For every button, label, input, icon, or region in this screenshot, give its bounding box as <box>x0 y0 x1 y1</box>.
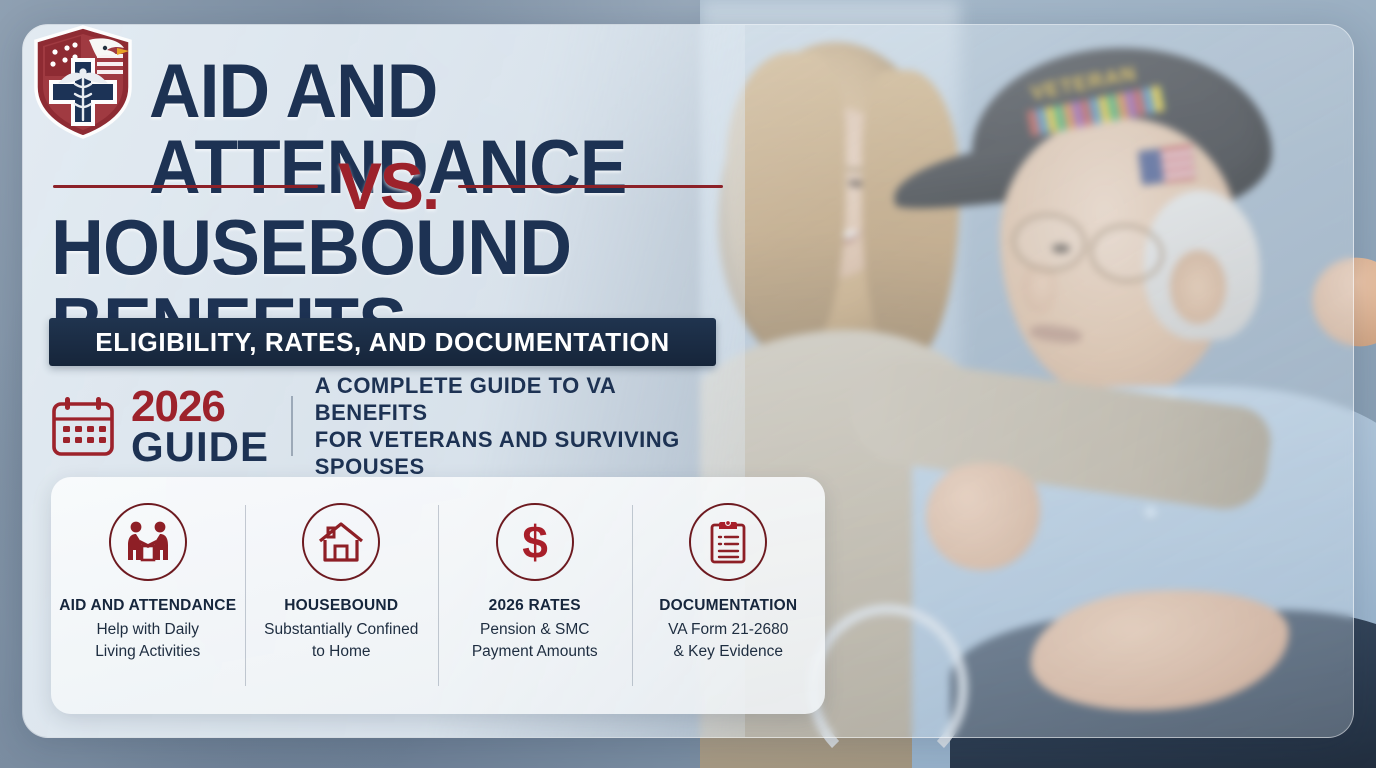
left-content-column: AID AND ATTENDANCE VS. HOUSEBOUND BENEFI… <box>23 25 753 738</box>
icon-ring <box>109 503 187 581</box>
feature-card-subtitle: Substantially Confined to Home <box>264 619 418 663</box>
versus-rule-left <box>53 185 318 188</box>
feature-card-aid-and-attendance[interactable]: AID AND ATTENDANCE Help with Daily Livin… <box>51 477 245 714</box>
glass-content-panel: AID AND ATTENDANCE VS. HOUSEBOUND BENEFI… <box>22 24 1354 738</box>
feature-card-strip: AID AND ATTENDANCE Help with Daily Livin… <box>51 477 825 714</box>
feature-card-subtitle-line-2: Living Activities <box>95 643 200 660</box>
two-people-helping-icon <box>123 520 173 564</box>
guide-word: GUIDE <box>131 426 269 468</box>
feature-card-subtitle-line-2: to Home <box>312 643 371 660</box>
guide-year-row: 2026 GUIDE A COMPLETE GUIDE TO VA BENEFI… <box>51 385 731 467</box>
subtitle-banner-text: ELIGIBILITY, RATES, AND DOCUMENTATION <box>95 327 669 358</box>
feature-card-subtitle-line-2: & Key Evidence <box>674 643 783 660</box>
versus-rule-right <box>458 185 723 188</box>
feature-card-subtitle-line-1: Help with Daily <box>96 621 199 638</box>
guide-description-line-1: A COMPLETE GUIDE TO VA BENEFITS <box>315 372 731 426</box>
calendar-icon <box>51 395 115 457</box>
guide-divider <box>291 396 293 456</box>
guide-year-block: 2026 GUIDE <box>131 385 269 468</box>
icon-ring <box>689 503 767 581</box>
guide-year: 2026 <box>131 385 269 429</box>
feature-card-subtitle-line-2: Payment Amounts <box>472 643 598 660</box>
icon-ring <box>302 503 380 581</box>
clipboard-document-icon <box>707 518 749 566</box>
feature-card-title: HOUSEBOUND <box>284 597 398 615</box>
house-icon <box>317 520 365 564</box>
feature-card-subtitle: Pension & SMC Payment Amounts <box>472 619 598 663</box>
feature-card-subtitle-line-1: Substantially Confined <box>264 621 418 638</box>
feature-card-documentation[interactable]: DOCUMENTATION VA Form 21-2680 & Key Evid… <box>632 477 826 714</box>
subtitle-banner: ELIGIBILITY, RATES, AND DOCUMENTATION <box>49 318 716 366</box>
guide-description: A COMPLETE GUIDE TO VA BENEFITS FOR VETE… <box>315 372 731 480</box>
dollar-sign-icon: $ <box>518 518 552 566</box>
feature-card-title: AID AND ATTENDANCE <box>59 597 236 615</box>
svg-text:$: $ <box>522 518 548 566</box>
va-shield-eagle-medical-cross-logo-icon <box>31 24 135 140</box>
guide-description-line-2: FOR VETERANS AND SURVIVING SPOUSES <box>315 426 731 480</box>
feature-card-subtitle: Help with Daily Living Activities <box>95 619 200 663</box>
feature-card-2026-rates[interactable]: $ 2026 RATES Pension & SMC Payment Amoun… <box>438 477 632 714</box>
feature-card-subtitle-line-1: VA Form 21-2680 <box>668 621 788 638</box>
feature-card-title: DOCUMENTATION <box>659 597 797 615</box>
feature-card-subtitle-line-1: Pension & SMC <box>480 621 589 638</box>
feature-card-title: 2026 RATES <box>489 597 581 615</box>
feature-card-subtitle: VA Form 21-2680 & Key Evidence <box>668 619 788 663</box>
feature-card-housebound[interactable]: HOUSEBOUND Substantially Confined to Hom… <box>245 477 439 714</box>
icon-ring: $ <box>496 503 574 581</box>
